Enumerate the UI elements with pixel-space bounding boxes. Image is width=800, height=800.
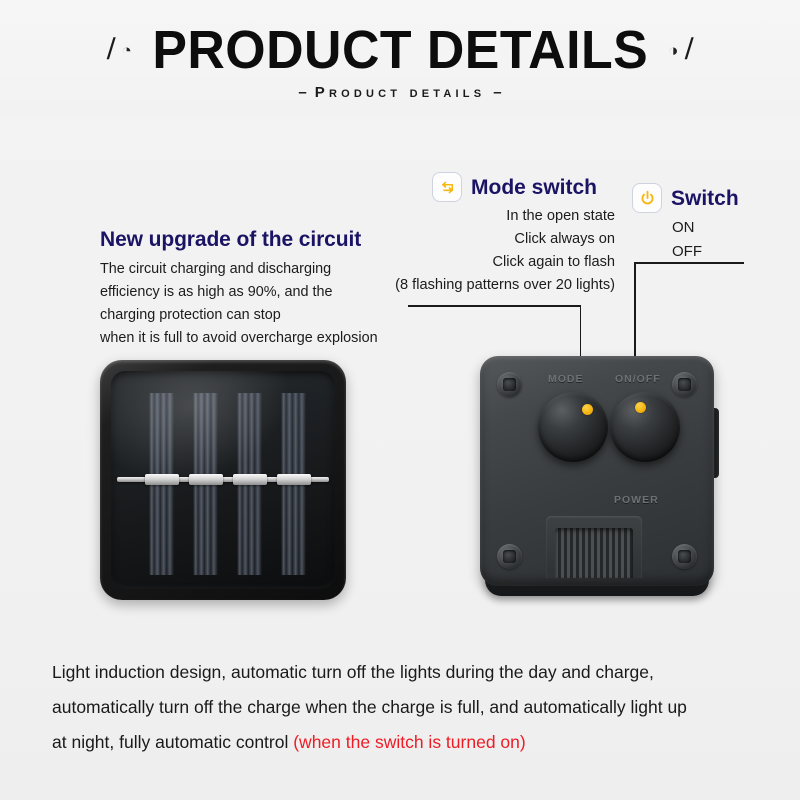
circuit-line-4: when it is full to avoid overcharge expl… [100,327,430,350]
mode-switch-line-3: Click again to flash [370,251,615,274]
controller-power-label: POWER [614,494,659,506]
mode-switch-header: Mode switch [370,172,615,202]
switch-feature-block: Switch ON OFF [632,183,782,264]
bottom-line-1: Light induction design, automatic turn o… [52,655,762,690]
screw-icon [497,372,522,397]
switch-title: Switch [671,188,739,209]
bottom-line-2: automatically turn off the charge when t… [52,690,762,725]
solar-busbar-node [277,474,311,485]
screw-icon [672,372,697,397]
subtitle-dash-right: – [485,84,509,101]
switch-header: Switch [632,183,782,213]
mode-switch-title: Mode switch [471,177,597,198]
screw-icon [497,544,522,569]
page-header: / ◔ PRODUCT DETAILS ◑ / –Product details… [0,0,800,118]
controller-vent [546,516,642,578]
mode-switch-line-1: In the open state [370,205,615,228]
title-right-decoration: ◑ / [668,35,693,65]
circuit-line-3: charging protection can stop [100,304,430,327]
title-row: / ◔ PRODUCT DETAILS ◑ / [0,22,800,78]
mode-button-indicator [582,404,593,415]
controller-onoff-label: ON/OFF [615,373,661,385]
subtitle-text: Product details [315,84,485,101]
bottom-line-3: at night, fully automatic control (when … [52,725,762,760]
switch-state-off: OFF [632,240,782,264]
page-title: PRODUCT DETAILS [152,23,648,77]
controller-vent-grille [555,528,633,578]
page-subtitle: –Product details– [0,84,800,101]
slash-icon: / [684,35,693,65]
solar-busbar-node [145,474,179,485]
slash-icon: / [107,35,116,65]
mode-switch-line-4: (8 flashing patterns over 20 lights) [370,274,615,297]
onoff-button-indicator [635,402,646,413]
loop-arrows-icon [432,172,462,202]
mode-button[interactable] [538,392,608,462]
orb-icon: ◔ [121,42,131,59]
mode-switch-line-2: Click always on [370,228,615,251]
solar-busbar-node [189,474,223,485]
controller-mode-label: MODE [548,373,584,385]
controller-box-photo: MODE ON/OFF POWER [480,356,714,600]
product-details-page: / ◔ PRODUCT DETAILS ◑ / –Product details… [0,0,800,800]
onoff-button[interactable] [610,392,680,462]
title-left-decoration: / ◔ [107,35,132,65]
switch-state-on: ON [632,216,782,240]
power-icon [632,183,662,213]
bottom-line-3-black: at night, fully automatic control [52,732,293,752]
solar-panel-surface [111,371,335,589]
solar-busbar-node [233,474,267,485]
controller-faceplate: MODE ON/OFF POWER [480,356,714,586]
mode-switch-feature-block: Mode switch In the open state Click alwa… [370,172,615,297]
screw-icon [672,544,697,569]
mode-pointer-horizontal [408,305,581,307]
bottom-line-3-red: (when the switch is turned on) [293,732,525,752]
orb-icon: ◑ [668,42,678,59]
bottom-description: Light induction design, automatic turn o… [52,655,762,760]
solar-panel-photo [100,360,346,600]
switch-pointer-horizontal [634,262,744,264]
subtitle-dash-left: – [290,84,314,101]
